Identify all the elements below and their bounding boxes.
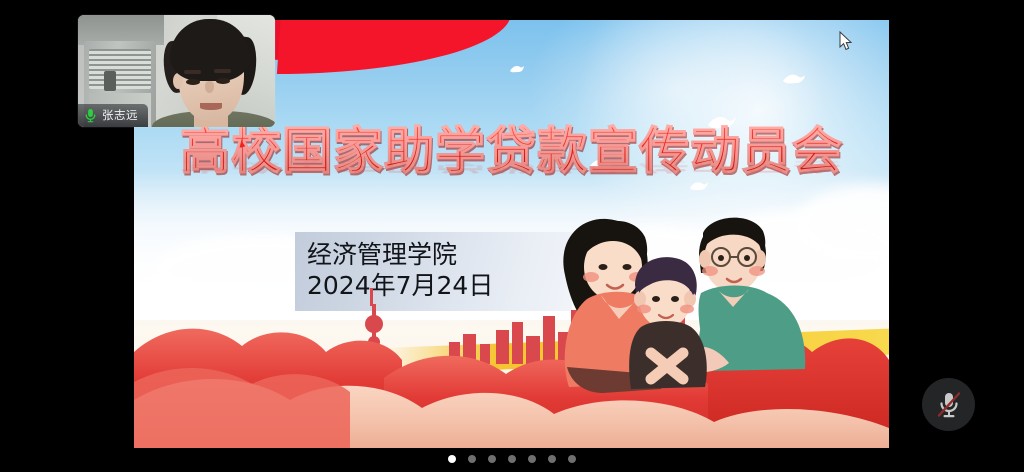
family-illustration	[551, 197, 881, 412]
pagination-dot[interactable]	[568, 455, 576, 463]
slide-title-reflection: 高校国家助学贷款宣传动员会	[134, 151, 889, 174]
participant-video-tile[interactable]: 张志远	[78, 15, 275, 127]
pagination-dot[interactable]	[468, 455, 476, 463]
father-figure	[687, 218, 805, 373]
pagination-dot[interactable]	[488, 455, 496, 463]
person-eye-left	[186, 79, 200, 85]
person-brow-right	[214, 69, 231, 73]
microphone-muted-icon	[936, 390, 962, 420]
participant-name: 张志远	[102, 107, 138, 123]
air-conditioner-panel	[104, 71, 116, 91]
pagination-dot[interactable]	[448, 455, 456, 463]
person-brow-left	[184, 70, 201, 74]
mute-toggle-button[interactable]	[922, 378, 975, 431]
dove-icon	[782, 72, 806, 88]
person-mouth	[200, 103, 222, 110]
microphone-icon	[84, 108, 97, 123]
slide-pagination[interactable]	[0, 455, 1024, 463]
red-flag-ribbon	[277, 20, 511, 74]
pagination-dot[interactable]	[548, 455, 556, 463]
dove-icon	[509, 64, 525, 75]
pagination-dot[interactable]	[528, 455, 536, 463]
pagination-dot[interactable]	[508, 455, 516, 463]
subtitle-line-department: 经济管理学院	[307, 240, 560, 271]
person-eye-right	[216, 78, 230, 84]
participant-name-badge: 张志远	[78, 104, 148, 127]
screen-share-stage: 高校国家助学贷款宣传动员会 高校国家助学贷款宣传动员会 经济管理学院 2024年…	[0, 0, 1024, 472]
person-nose	[205, 81, 214, 93]
